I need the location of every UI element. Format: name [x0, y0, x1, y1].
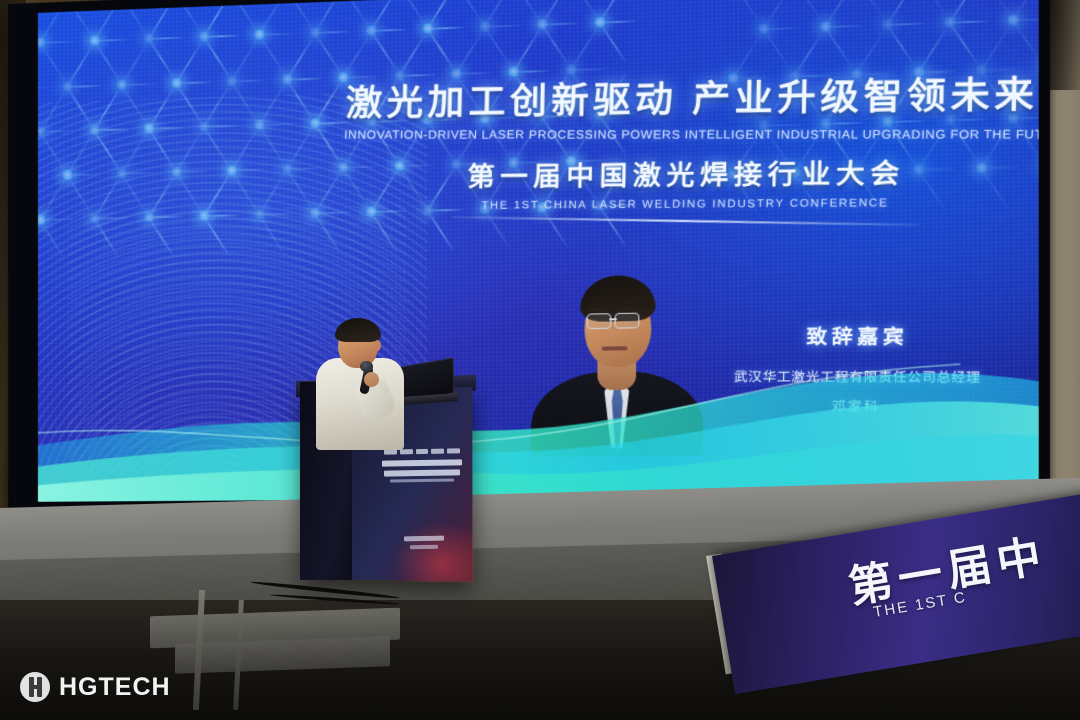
hgtech-logo-icon: [20, 672, 50, 702]
screen-subtitle-cn: 第一届中国激光焊接行业大会: [343, 151, 1039, 195]
podium-sponsor-logo: [447, 448, 460, 453]
wave-graphics: [38, 342, 1039, 502]
portrait-glasses-right: [615, 313, 640, 329]
portrait-eyebrow-right: [617, 307, 636, 310]
podium-footer-logo: [404, 536, 444, 542]
presenter-ear: [374, 340, 381, 351]
portrait-glasses-left: [587, 313, 612, 329]
conference-stage-photo: 激光加工创新驱动 产业升级智领未来 INNOVATION-DRIVEN LASE…: [0, 0, 1080, 720]
microphone-head: [360, 361, 373, 372]
presenter-hand: [364, 372, 379, 387]
screen-title-en: INNOVATION-DRIVEN LASER PROCESSING POWER…: [344, 129, 1039, 142]
presenter-hair: [335, 318, 381, 342]
podium-sponsor-logo: [416, 449, 429, 454]
hgtech-brand-text: HGTECH: [59, 673, 171, 702]
portrait-eyebrow-left: [588, 308, 607, 311]
portrait-glasses-bridge: [609, 318, 617, 320]
screen-title-block: 激光加工创新驱动 产业升级智领未来 INNOVATION-DRIVEN LASE…: [342, 64, 1038, 223]
presenter: [306, 320, 416, 450]
podium-red-light-glow: [392, 520, 474, 582]
network-node-icon: [116, 0, 127, 1]
podium-sponsor-logo: [384, 449, 397, 454]
led-screen-frame: 激光加工创新驱动 产业升级智领未来 INNOVATION-DRIVEN LASE…: [8, 0, 1050, 524]
screen-subtitle-en: THE 1ST CHINA LASER WELDING INDUSTRY CON…: [343, 196, 1038, 213]
podium-sponsor-logo: [431, 449, 444, 454]
hgtech-watermark: HGTECH: [20, 672, 171, 702]
led-screen-display: 激光加工创新驱动 产业升级智领未来 INNOVATION-DRIVEN LASE…: [38, 0, 1039, 502]
podium-footer-logo-sub: [410, 545, 438, 549]
hgtech-logo-crossbar: [29, 685, 42, 689]
screen-title-cn: 激光加工创新驱动 产业升级智领未来: [344, 64, 1038, 126]
